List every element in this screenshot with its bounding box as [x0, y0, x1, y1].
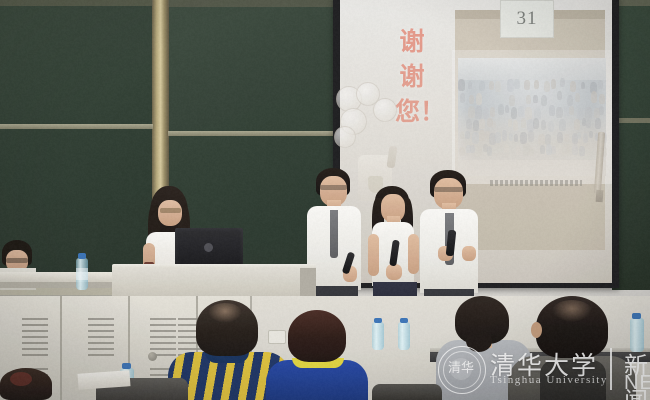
- front-desk-edge: [0, 282, 120, 288]
- presenter-hand: [462, 246, 476, 261]
- audience-scalp: [552, 300, 592, 322]
- audience-ear: [531, 322, 542, 338]
- audience-scalp: [208, 303, 242, 323]
- blackboard-rail: [0, 0, 153, 6]
- bottle-cap: [122, 363, 131, 369]
- bottle-cap: [400, 318, 408, 323]
- photo-canvas: 31 谢谢您！: [0, 0, 650, 400]
- glasses-icon: [434, 187, 463, 192]
- water-bottle: [372, 322, 384, 350]
- watermark-university-en: Tsinghua University: [490, 374, 608, 386]
- blackboard-rail: [0, 124, 153, 129]
- locker-vent: [88, 318, 114, 356]
- bottle-cap: [374, 318, 382, 323]
- front-desk: [0, 272, 120, 282]
- presenter-arm-left: [368, 234, 379, 276]
- locker-handle: [148, 352, 157, 361]
- presenter-tie: [330, 210, 338, 258]
- locker-vent: [22, 318, 48, 356]
- watermark-divider: [610, 348, 612, 390]
- bottle-cap: [78, 253, 86, 259]
- glasses-icon: [6, 258, 28, 263]
- watermark: 清华 清华大学 Tsinghua University 新闻 NEWS: [438, 344, 650, 396]
- audience-hair-highlight: [10, 372, 32, 386]
- operator-face: [158, 200, 182, 226]
- bottle-label: [76, 268, 88, 280]
- tsinghua-seal-label: 清华: [438, 358, 484, 380]
- presenter-hand: [386, 264, 402, 280]
- blackboard-rail: [168, 131, 337, 136]
- locker-vent: [150, 318, 176, 356]
- blackboard-rail: [168, 0, 337, 7]
- watermark-section-en: NEWS: [624, 372, 650, 395]
- glasses-icon: [320, 185, 347, 190]
- locker-seam: [60, 296, 62, 400]
- laptop-logo: [204, 243, 213, 252]
- glasses-icon: [160, 208, 181, 213]
- chair-back: [372, 384, 442, 400]
- water-bottle: [398, 322, 410, 350]
- audience-head: [288, 310, 346, 362]
- wall-outlet: [268, 330, 286, 344]
- presenter-arm-right: [408, 234, 419, 274]
- bottle-cap: [632, 313, 641, 319]
